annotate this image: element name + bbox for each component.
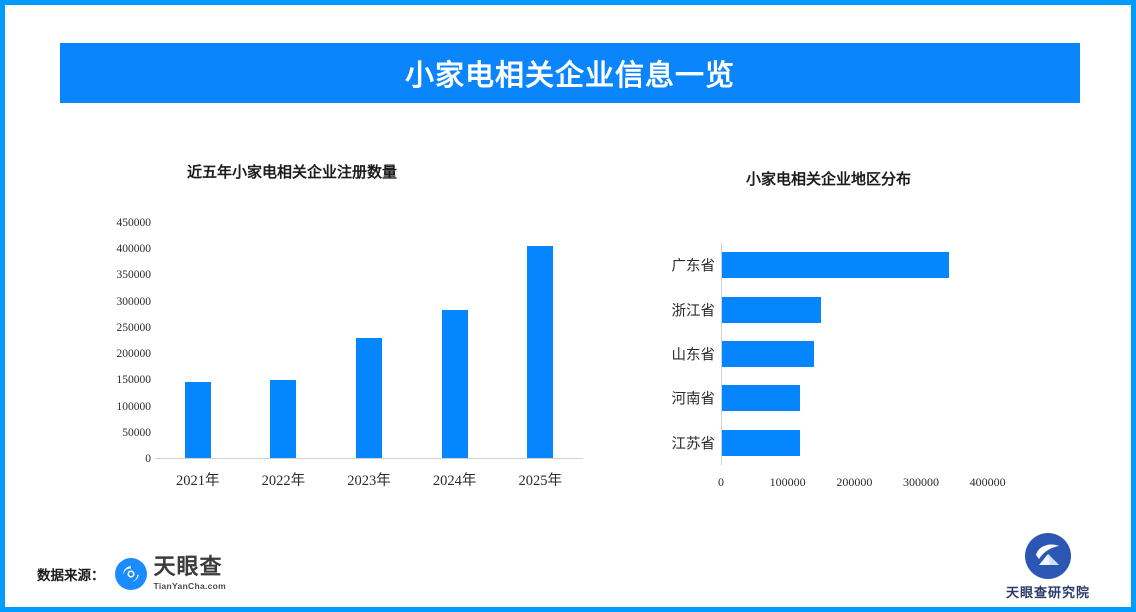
tianyancha-eye-icon <box>115 558 147 590</box>
tianyancha-name-cn: 天眼查 <box>154 557 227 579</box>
x-axis-tick-label: 2023年 <box>347 469 391 490</box>
tianyancha-logo: 天眼查 TianYanCha.com <box>115 557 227 591</box>
category-label-山东省: 山东省 <box>672 344 716 365</box>
y-axis-tick-label: 200000 <box>117 348 152 360</box>
y-axis-tick-label: 400000 <box>117 243 152 255</box>
y-axis-tick-label: 0 <box>145 453 151 465</box>
bar-浙江省 <box>722 297 821 323</box>
y-axis-tick-label: 150000 <box>117 374 152 386</box>
y-axis-tick-label: 450000 <box>117 217 152 229</box>
brand-footer: 天眼查研究院 <box>993 533 1103 601</box>
bar-2025年 <box>527 246 553 458</box>
y-axis-tick-label: 350000 <box>117 269 152 281</box>
source-label: 数据来源： <box>37 564 105 584</box>
registrations-bar-chart: 0500001000001500002000002500003000003500… <box>85 223 585 498</box>
x-axis-tick-label: 200000 <box>836 475 872 490</box>
research-institute-icon <box>1025 533 1071 579</box>
left-chart-title: 近五年小家电相关企业注册数量 <box>187 161 397 182</box>
x-axis-tick-label: 0 <box>718 475 724 490</box>
y-axis-tick-label: 100000 <box>117 401 152 413</box>
bar-2022年 <box>270 380 296 458</box>
bar-江苏省 <box>722 430 800 456</box>
y-axis-tick-label: 250000 <box>117 322 152 334</box>
category-label-江苏省: 江苏省 <box>672 432 716 453</box>
x-axis-tick-label: 2024年 <box>433 469 477 490</box>
y-axis-tick-labels: 0500001000001500002000002500003000003500… <box>85 223 151 459</box>
category-label-广东省: 广东省 <box>672 255 716 276</box>
x-axis-tick-label: 2025年 <box>518 469 562 490</box>
region-distribution-bar-chart: 广东省浙江省山东省河南省江苏省 010000020000030000040000… <box>635 243 1055 508</box>
category-label-河南省: 河南省 <box>672 388 716 409</box>
page-title: 小家电相关企业信息一览 <box>405 52 735 94</box>
y-axis-tick-label: 50000 <box>122 427 151 439</box>
vertical-bar-plot-area: 2021年2022年2023年2024年2025年 <box>155 223 583 459</box>
tianyancha-name-en: TianYanCha.com <box>154 582 227 591</box>
category-label-浙江省: 浙江省 <box>672 299 716 320</box>
x-axis-tick-label: 300000 <box>903 475 939 490</box>
x-axis-tick-label: 400000 <box>970 475 1006 490</box>
bar-2024年 <box>442 310 468 458</box>
bar-山东省 <box>722 341 814 367</box>
header-banner: 小家电相关企业信息一览 <box>60 43 1080 103</box>
bar-2021年 <box>185 382 211 458</box>
x-axis-tick-label: 100000 <box>770 475 806 490</box>
x-axis-tick-label: 2022年 <box>262 469 306 490</box>
bar-河南省 <box>722 385 800 411</box>
x-axis-tick-label: 2021年 <box>176 469 220 490</box>
category-axis-labels: 广东省浙江省山东省河南省江苏省 <box>635 243 715 465</box>
bar-2023年 <box>356 338 382 458</box>
data-source: 数据来源： 天眼查 TianYanCha.com <box>37 557 226 591</box>
tianyancha-wordmark: 天眼查 TianYanCha.com <box>154 557 227 591</box>
y-axis-tick-label: 300000 <box>117 296 152 308</box>
x-axis-baseline <box>155 458 583 459</box>
horizontal-bar-plot-area: 0100000200000300000400000 <box>721 243 1021 465</box>
bar-广东省 <box>722 252 949 278</box>
right-chart-title: 小家电相关企业地区分布 <box>746 168 911 189</box>
infographic-page: 小家电相关企业信息一览 近五年小家电相关企业注册数量 0500001000001… <box>0 0 1136 612</box>
brand-name: 天眼查研究院 <box>1006 582 1090 601</box>
